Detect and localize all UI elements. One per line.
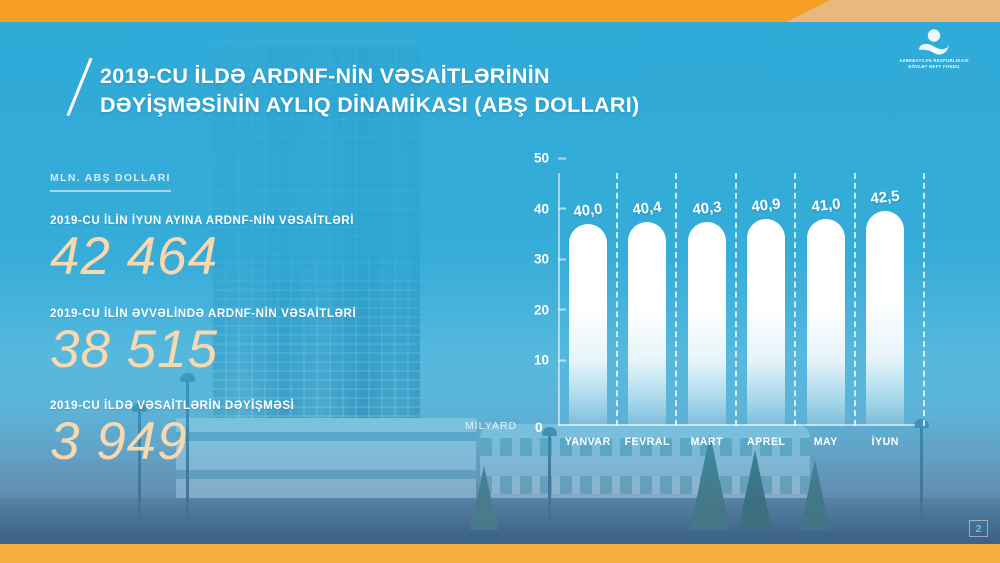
chart-bar-fevral[interactable]: 40,4 — [628, 222, 666, 426]
chart-y-tick-50: 50 — [534, 151, 558, 166]
chart-x-label-mart: MART — [677, 436, 737, 448]
chart-bar-may[interactable]: 41,0 — [807, 219, 845, 426]
stat-block-2: 2019-CU İLİN ƏVVƏLİNDƏ ARDNF-NİN VƏSAİTL… — [50, 307, 450, 378]
stats-panel: MLN. ABŞ DOLLARI 2019-CU İLİN İYUN AYINA… — [50, 168, 450, 470]
stat-block-1: 2019-CU İLİN İYUN AYINA ARDNF-NİN VƏSAİT… — [50, 214, 450, 285]
chart-bar-group: 40,040,440,340,941,042,5 — [558, 173, 915, 426]
chart-y-tick-10: 10 — [534, 353, 558, 368]
chart-plot-area: 1020304050 40,040,440,340,941,042,5 — [558, 173, 915, 426]
chart-column: 40,3 — [677, 173, 737, 426]
chart-bar-yanvar[interactable]: 40,0 — [569, 224, 607, 426]
chart-x-label-aprel: APREL — [737, 436, 797, 448]
stat-label-3: 2019-CU İLDƏ VƏSAİTLƏRİN DƏYİŞMƏSİ — [50, 399, 450, 412]
top-accent-bar — [0, 0, 1000, 22]
page-title-line-2: DƏYİŞMƏSİNİN AYLIQ DİNAMİKASI (ABŞ DOLLA… — [100, 91, 760, 120]
slide-canvas: AZƏRBAYCAN RESPUBLİKASI DÖVLƏT NEFT FOND… — [0, 0, 1000, 563]
chart-bar-aprel[interactable]: 40,9 — [747, 219, 785, 426]
chart-y-tick-mark — [558, 157, 566, 159]
stat-value-3: 3 949 — [50, 414, 450, 470]
chart-zero-tick-label: 0 — [535, 420, 543, 435]
chart-unit-label: MİLYARD — [465, 420, 517, 432]
monthly-dynamics-bar-chart: 1020304050 40,040,440,340,941,042,5 YANV… — [505, 168, 925, 468]
chart-bar-value-label: 42,5 — [870, 187, 901, 207]
chart-x-label-may: MAY — [796, 436, 856, 448]
stat-block-3: 2019-CU İLDƏ VƏSAİTLƏRİN DƏYİŞMƏSİ 3 949 — [50, 399, 450, 470]
chart-bar-value-label: 40,9 — [751, 196, 782, 216]
chart-bar-value-label: 40,3 — [691, 199, 722, 219]
chart-bar-value-label: 40,0 — [572, 200, 603, 220]
stat-value-1: 42 464 — [50, 229, 450, 285]
chart-bar-i̇yun[interactable]: 42,5 — [866, 211, 904, 426]
top-accent-bar-orange — [0, 0, 830, 22]
chart-y-tick-40: 40 — [534, 201, 558, 216]
chart-x-label-i̇yun: İYUN — [856, 436, 916, 448]
stat-label-2: 2019-CU İLİN ƏVVƏLİNDƏ ARDNF-NİN VƏSAİTL… — [50, 307, 450, 320]
chart-y-tick-30: 30 — [534, 252, 558, 267]
chart-x-label-fevral: FEVRAL — [618, 436, 678, 448]
sofaz-logo: AZƏRBAYCAN RESPUBLİKASI DÖVLƏT NEFT FOND… — [878, 28, 990, 71]
logo-line-2: DÖVLƏT NEFT FONDU — [878, 64, 990, 70]
chart-column: 40,4 — [618, 173, 678, 426]
chart-bar-value-label: 41,0 — [810, 195, 841, 215]
stats-unit-label: MLN. ABŞ DOLLARI — [50, 172, 171, 192]
page-title: 2019-CU İLDƏ ARDNF-NİN VƏSAİTLƏRİNİN DƏY… — [100, 62, 760, 119]
chart-x-label-yanvar: YANVAR — [558, 436, 618, 448]
chart-y-tick-20: 20 — [534, 302, 558, 317]
page-title-line-1: 2019-CU İLDƏ ARDNF-NİN VƏSAİTLƏRİNİN — [100, 62, 760, 91]
chart-column: 40,0 — [558, 173, 618, 426]
page-number: 2 — [969, 520, 988, 537]
chart-column: 40,9 — [737, 173, 797, 426]
sofaz-emblem-icon — [917, 28, 951, 58]
chart-x-label-group: YANVARFEVRALMARTAPRELMAYİYUN — [558, 436, 915, 448]
chart-column: 42,5 — [856, 173, 916, 426]
bottom-accent-bar — [0, 544, 1000, 563]
chart-bar-mart[interactable]: 40,3 — [688, 222, 726, 426]
stat-value-2: 38 515 — [50, 322, 450, 378]
chart-bar-value-label: 40,4 — [632, 198, 663, 218]
stat-label-1: 2019-CU İLİN İYUN AYINA ARDNF-NİN VƏSAİT… — [50, 214, 450, 227]
chart-column: 41,0 — [796, 173, 856, 426]
